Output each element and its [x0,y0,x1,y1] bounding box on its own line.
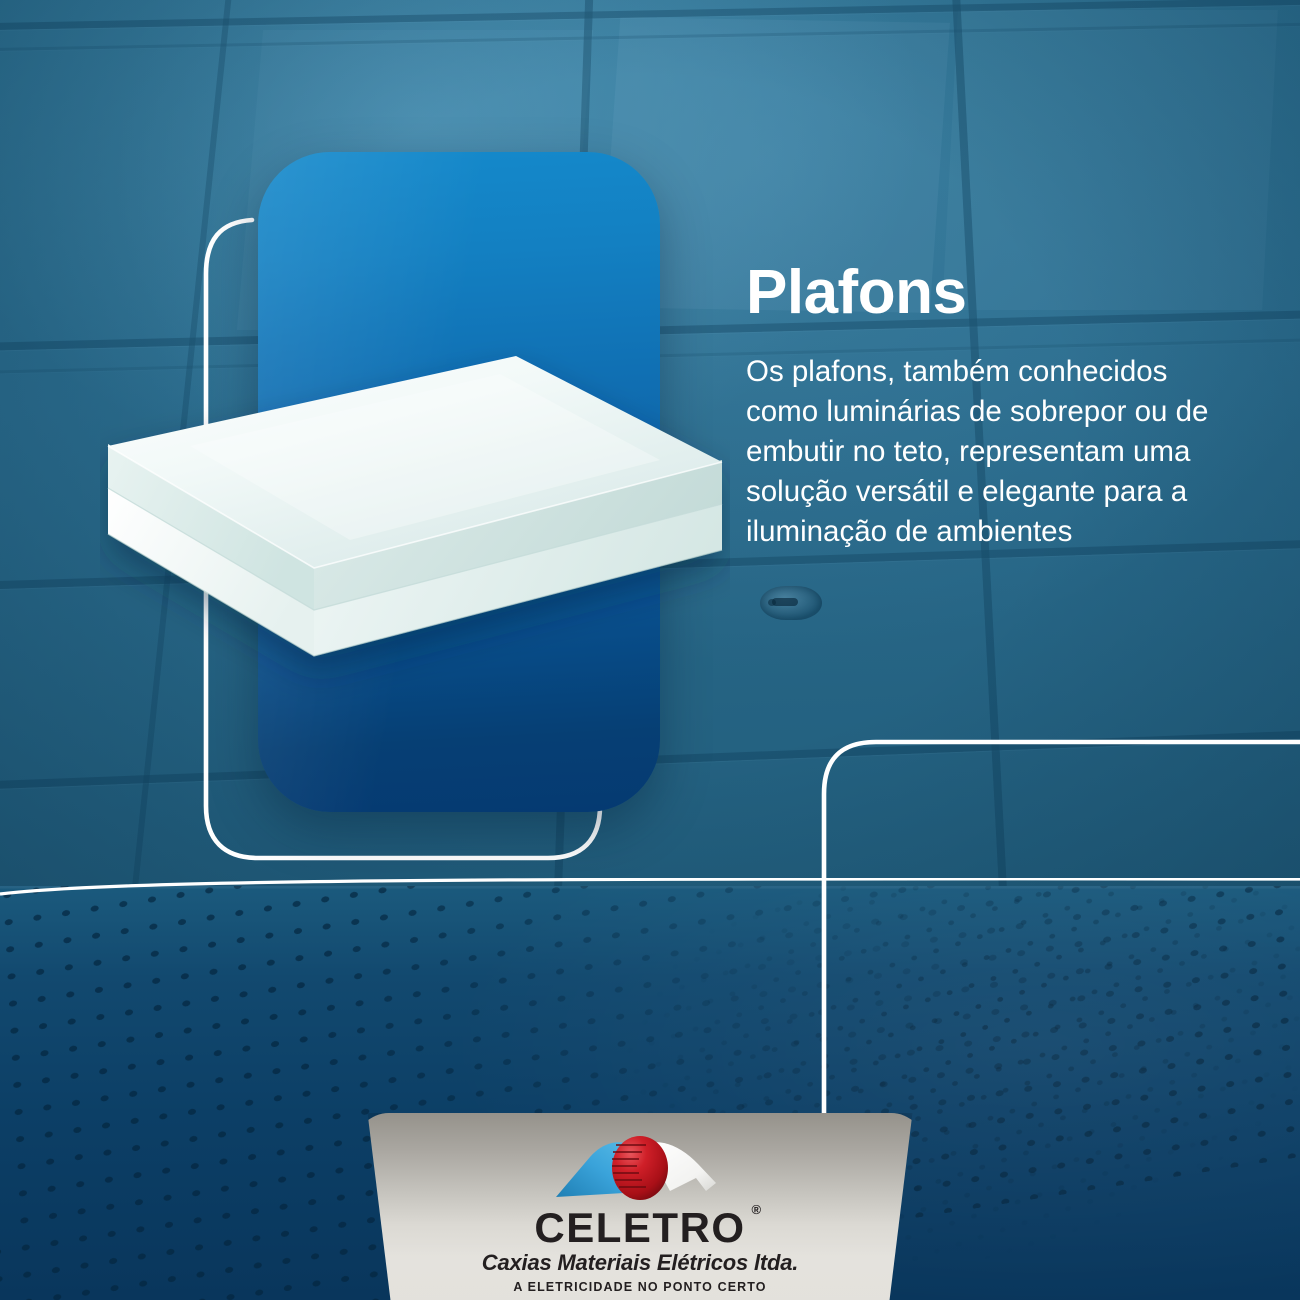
registered-mark: ® [751,1203,762,1216]
social-post-canvas: Plafons Os plafons, também conhecidos co… [0,0,1300,1300]
brand-name: CELETRO® [534,1207,745,1249]
brand-subtitle: Caxias Materiais Elétricos ltda. [482,1250,798,1276]
body-text: Os plafons, também conhecidos como lumin… [746,352,1216,552]
smoke-detector-icon [760,586,822,620]
brand-logo: CELETRO® Caxias Materiais Elétricos ltda… [355,1131,925,1294]
product-image-plafon [100,338,730,728]
brand-tagline: A ELETRICIDADE NO PONTO CERTO [513,1280,766,1294]
decorative-frame-right [790,730,1300,1130]
page-title: Plafons [746,262,966,324]
logo-mark [520,1131,760,1209]
brand-name-text: CELETRO [534,1204,745,1251]
logo-bar: CELETRO® Caxias Materiais Elétricos ltda… [355,1113,925,1300]
